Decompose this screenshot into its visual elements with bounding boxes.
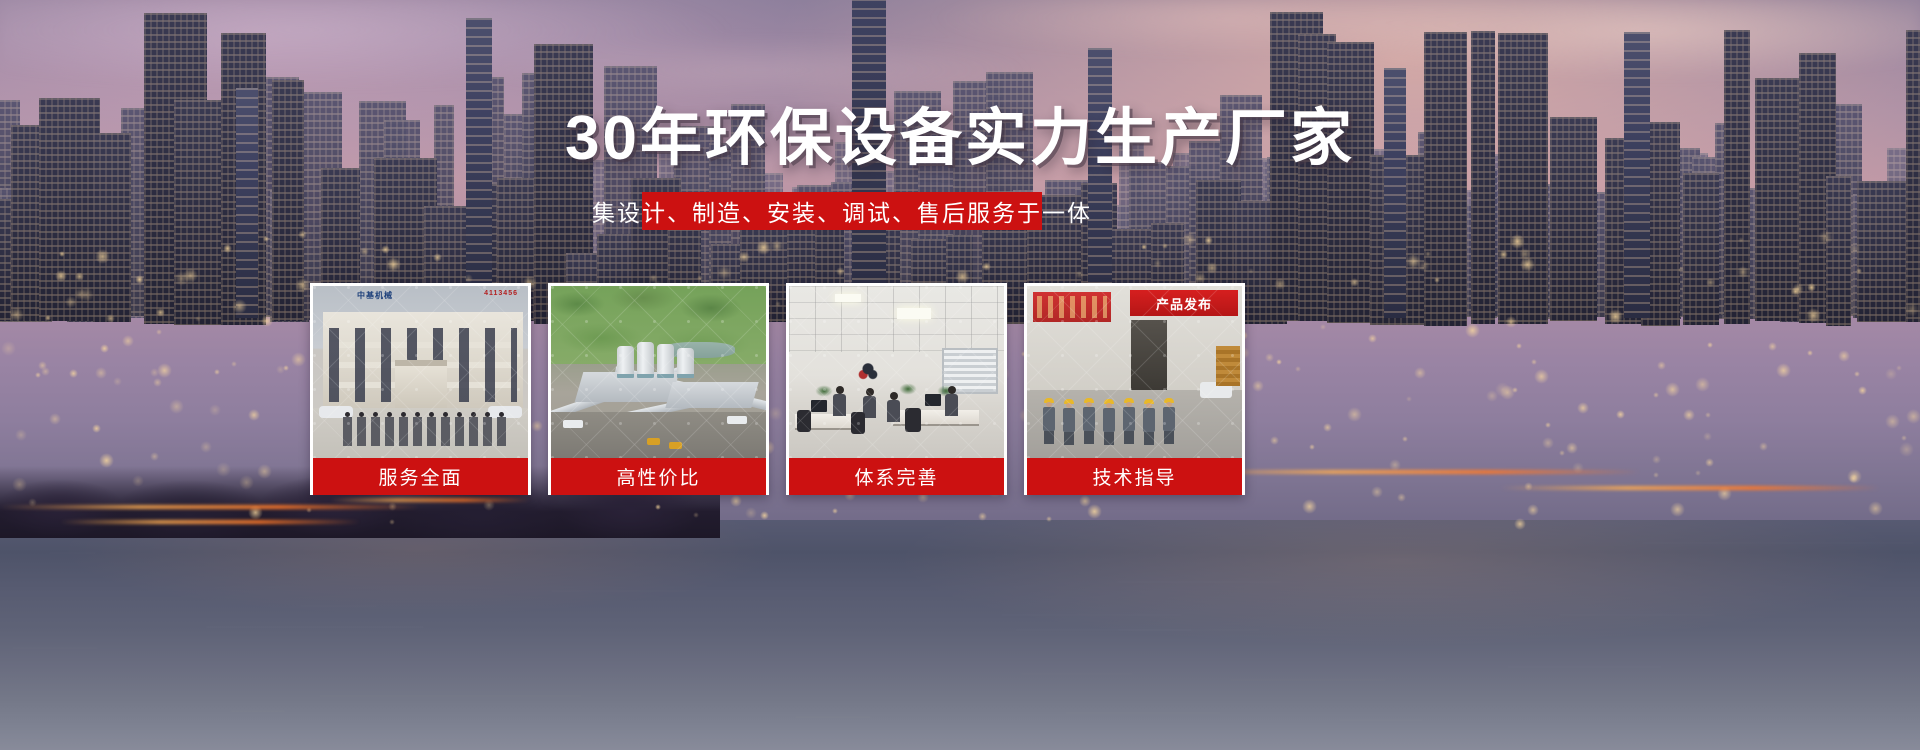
skyline-building <box>1906 30 1920 322</box>
city-light <box>239 475 254 490</box>
staff-member <box>483 412 492 446</box>
city-light <box>99 453 114 468</box>
city-light <box>836 267 845 276</box>
city-light <box>150 452 159 461</box>
city-light <box>1141 244 1147 250</box>
office-chair <box>797 410 811 432</box>
landmark-tower <box>1384 68 1406 318</box>
city-light <box>1652 455 1661 464</box>
storage-silo <box>637 342 654 378</box>
city-light <box>65 296 77 308</box>
water-streak <box>1230 679 1386 681</box>
card-label-text: 服务全面 <box>378 463 462 490</box>
water-streak <box>1001 614 1182 616</box>
water-streak <box>1349 705 1552 707</box>
workshop-illustration: 产品发布 <box>1027 286 1242 458</box>
city-light <box>1904 302 1919 317</box>
city-light <box>697 275 703 281</box>
water-streak <box>300 605 377 607</box>
city-light <box>756 240 771 255</box>
plant-shed <box>665 382 758 408</box>
water-streak <box>795 716 871 718</box>
city-light <box>1265 353 1274 362</box>
seated-employee <box>945 386 958 416</box>
water-streak <box>286 623 525 625</box>
city-light <box>1516 343 1522 349</box>
city-light <box>1046 516 1052 522</box>
city-light <box>1499 250 1508 259</box>
city-light <box>174 271 189 286</box>
city-light <box>1776 363 1791 378</box>
skyline-building <box>1683 173 1719 325</box>
card-label-text: 体系完善 <box>854 463 938 490</box>
water-streak <box>677 739 922 741</box>
city-light <box>1204 236 1213 245</box>
city-light <box>132 475 144 487</box>
city-light <box>1847 469 1862 484</box>
staff-member <box>399 412 408 446</box>
aerial-factory-illustration <box>551 286 766 458</box>
skyline-building <box>1550 117 1597 321</box>
city-light <box>1320 324 1326 330</box>
riverside-light-strip <box>1500 486 1880 490</box>
city-light <box>1838 350 1850 362</box>
office-chair <box>851 412 865 434</box>
factory-worker <box>1163 398 1175 444</box>
city-light <box>200 441 212 453</box>
city-light <box>1402 436 1408 442</box>
ceiling-grid <box>789 286 1004 352</box>
city-light <box>1791 287 1800 296</box>
water-streak <box>1222 609 1467 611</box>
city-light <box>92 424 101 433</box>
city-light <box>649 274 658 283</box>
water-streak <box>912 585 1051 587</box>
city-light <box>41 367 50 376</box>
product-launch-text: 产品发布 <box>1156 294 1212 313</box>
city-light <box>1899 442 1914 457</box>
staff-member <box>413 412 422 446</box>
city-light <box>1737 266 1749 278</box>
office-building-illustration: 中基机械 4113456 <box>313 286 528 458</box>
water-streak <box>653 672 851 674</box>
city-light <box>1542 437 1554 449</box>
city-light <box>1695 377 1710 392</box>
city-light <box>1527 504 1539 516</box>
water-streak <box>513 558 787 560</box>
wheel-loader <box>669 442 682 449</box>
city-light <box>1665 382 1680 397</box>
city-light <box>1514 518 1526 530</box>
city-light <box>1323 423 1332 432</box>
feature-card[interactable]: 高性价比 <box>548 283 769 495</box>
city-light <box>257 464 272 479</box>
city-light <box>1182 232 1197 247</box>
city-light <box>360 247 369 256</box>
skyline-building <box>1471 31 1495 324</box>
feature-card-list: 中基机械 4113456 服务全面 <box>310 283 1260 495</box>
product-launch-banner: 产品发布 <box>1130 290 1238 316</box>
city-light <box>261 315 273 327</box>
city-light <box>15 429 27 441</box>
city-light <box>1896 365 1902 371</box>
city-light <box>209 404 221 416</box>
factory-worker <box>1043 398 1055 444</box>
city-light <box>1616 410 1625 419</box>
city-light <box>1849 243 1861 255</box>
water-streak <box>12 647 98 649</box>
city-light <box>231 361 237 367</box>
city-light <box>248 409 260 421</box>
city-light <box>1806 308 1821 323</box>
truck <box>727 416 747 424</box>
city-light <box>745 507 757 519</box>
city-light <box>1519 248 1531 260</box>
workshop-door <box>1131 320 1167 392</box>
city-light <box>1534 369 1549 384</box>
seated-employee <box>887 392 900 422</box>
city-light <box>1906 409 1920 424</box>
city-light <box>153 378 162 387</box>
landmark-tower <box>852 0 886 316</box>
city-light <box>1505 316 1517 328</box>
city-light <box>75 272 84 281</box>
seated-employee <box>833 386 846 416</box>
water-streak <box>1642 542 1914 544</box>
lumber-stack <box>1216 346 1240 386</box>
truck <box>563 420 583 428</box>
city-light <box>1657 361 1666 370</box>
water-streak <box>1547 597 1638 599</box>
city-light <box>156 308 165 317</box>
card-label-text: 高性价比 <box>616 463 700 490</box>
ceiling-light-panel <box>897 308 931 319</box>
water-streak <box>1118 629 1259 631</box>
city-light <box>1406 396 1412 402</box>
city-light <box>1695 470 1701 476</box>
factory-worker <box>1103 399 1115 445</box>
water-streak <box>13 549 249 551</box>
city-light <box>1653 392 1659 398</box>
city-light <box>55 270 67 282</box>
city-light <box>1274 278 1286 290</box>
city-light <box>1706 278 1715 287</box>
city-light <box>122 335 134 347</box>
city-light <box>738 251 750 263</box>
potted-plant <box>813 382 835 397</box>
landmark-tower <box>466 18 492 318</box>
city-light <box>214 369 220 375</box>
skyline-building <box>1857 181 1910 322</box>
city-light <box>1350 278 1359 287</box>
city-light <box>955 269 970 284</box>
city-light <box>1414 367 1426 379</box>
water-streak <box>1116 581 1281 583</box>
wall-slogan-banner <box>1033 292 1111 322</box>
card-label: 服务全面 <box>313 458 528 495</box>
city-light <box>771 240 783 252</box>
skyline-building <box>1826 176 1851 326</box>
city-light <box>1608 309 1623 324</box>
city-light <box>1858 386 1867 395</box>
skyline-building <box>1424 32 1467 326</box>
water-streak <box>551 590 822 592</box>
city-light <box>1397 493 1406 502</box>
computer-monitor <box>925 394 941 406</box>
city-light <box>1276 359 1282 365</box>
storage-silo <box>677 348 694 378</box>
water-streak <box>1556 618 1752 620</box>
water-streak <box>645 712 700 714</box>
water-reflection-glow <box>0 520 1920 750</box>
city-light <box>982 262 991 271</box>
office-interior-illustration <box>789 286 1004 458</box>
city-light <box>1868 501 1883 516</box>
water-streak <box>1076 683 1223 685</box>
water-streak <box>1021 673 1133 675</box>
city-light <box>157 363 172 378</box>
city-light <box>1885 368 1897 380</box>
feature-card[interactable]: 体系完善 <box>786 283 1007 495</box>
city-light <box>169 399 184 414</box>
city-light <box>156 329 162 335</box>
card-photo <box>551 286 766 458</box>
card-photo: 产品发布 <box>1027 286 1242 458</box>
card-label-text: 技术指导 <box>1092 463 1176 490</box>
city-light <box>1302 499 1317 514</box>
city-light <box>1818 230 1833 245</box>
city-light <box>1206 262 1218 274</box>
city-light <box>693 512 699 518</box>
city-light <box>1703 432 1712 441</box>
staff-member <box>371 412 380 446</box>
landmark-tower <box>1624 32 1650 318</box>
storage-silo <box>657 344 674 378</box>
city-light <box>45 315 51 321</box>
city-light <box>386 257 401 272</box>
water-streak <box>917 561 1156 563</box>
water-streak <box>293 629 338 631</box>
office-chair <box>905 408 921 432</box>
city-light <box>1854 371 1860 377</box>
city-light <box>760 511 769 520</box>
city-light <box>263 236 269 242</box>
city-light <box>381 245 390 254</box>
water-streak <box>570 631 743 633</box>
city-light <box>1768 342 1777 351</box>
storage-silo <box>617 346 634 378</box>
city-light <box>95 367 107 379</box>
city-light <box>433 253 442 262</box>
city-light <box>283 365 289 371</box>
landmark-tower <box>236 88 258 318</box>
water-streak <box>319 695 582 697</box>
water-streak <box>657 619 769 621</box>
landmark-tower <box>1088 48 1112 318</box>
city-light <box>1670 502 1685 517</box>
staff-member <box>343 412 352 446</box>
city-light <box>223 244 232 253</box>
city-light <box>655 504 661 510</box>
city-light <box>35 372 41 378</box>
card-photo: 中基机械 4113456 <box>313 286 528 458</box>
skyline-building <box>1498 33 1548 324</box>
city-light <box>195 316 201 322</box>
city-light <box>1705 412 1711 418</box>
city-light <box>1434 277 1440 283</box>
skyline-building <box>1724 30 1750 324</box>
potted-plant <box>897 380 919 395</box>
city-light <box>1759 442 1768 451</box>
factory-worker <box>1083 398 1095 444</box>
city-light <box>232 299 247 314</box>
card-label: 高性价比 <box>551 458 766 495</box>
water-streak <box>1551 577 1713 579</box>
city-light <box>106 314 115 323</box>
building-entrance <box>395 360 447 408</box>
card-photo <box>789 286 1004 458</box>
city-light <box>464 274 473 283</box>
city-light <box>298 230 307 239</box>
city-light <box>1545 422 1551 428</box>
wheel-loader <box>647 438 660 445</box>
city-light <box>216 462 231 477</box>
city-light <box>113 377 122 386</box>
feature-card[interactable]: 中基机械 4113456 服务全面 <box>310 283 531 495</box>
city-light <box>1707 342 1713 348</box>
city-light <box>59 251 65 257</box>
city-light <box>1577 402 1589 414</box>
building-phone-text: 4113456 <box>484 290 518 297</box>
city-light <box>49 413 61 425</box>
city-light <box>1531 359 1537 365</box>
city-light <box>1309 444 1315 450</box>
water-streak <box>1187 670 1245 672</box>
water-streak <box>736 568 893 570</box>
city-light <box>1 341 16 356</box>
city-light <box>1705 458 1714 467</box>
riverside-light-strip <box>0 505 420 509</box>
card-label: 体系完善 <box>789 458 1004 495</box>
factory-worker <box>1143 399 1155 445</box>
city-light <box>832 508 838 514</box>
city-light <box>1418 260 1430 272</box>
water-streak <box>230 710 285 712</box>
city-light <box>1270 436 1279 445</box>
city-light <box>1162 243 1168 249</box>
water-streak <box>817 576 911 578</box>
water-streak <box>1339 719 1423 721</box>
water-streak <box>1771 570 1855 572</box>
staff-member <box>455 412 464 446</box>
city-light <box>1425 251 1431 257</box>
city-light <box>1465 323 1480 338</box>
riverside-light-strip <box>60 520 360 524</box>
city-light <box>9 307 24 322</box>
city-light <box>1248 268 1254 274</box>
city-light <box>1901 435 1907 441</box>
computer-monitor <box>811 400 827 412</box>
factory-worker <box>1063 399 1075 445</box>
staff-member <box>469 412 478 446</box>
city-light <box>730 495 742 507</box>
city-light <box>100 344 109 353</box>
city-light <box>978 512 987 521</box>
subtitle-banner: 集设计、制造、安装、调试、售后服务于一体 <box>642 192 1042 230</box>
staff-member <box>441 412 450 446</box>
skyline-building <box>93 133 131 322</box>
card-label: 技术指导 <box>1027 458 1242 495</box>
city-light <box>1087 504 1102 519</box>
city-light <box>1807 283 1816 292</box>
city-light <box>1347 407 1362 422</box>
water-streak <box>981 641 1166 643</box>
water-streak <box>206 626 424 628</box>
water-streak <box>49 552 96 554</box>
city-light <box>717 265 732 280</box>
city-light <box>1368 334 1377 343</box>
city-light <box>1738 237 1744 243</box>
city-light <box>1885 414 1900 429</box>
city-light <box>1295 366 1301 372</box>
city-light <box>1653 472 1659 478</box>
city-light <box>295 278 310 293</box>
subtitle-text: 集设计、制造、安装、调试、售后服务于一体 <box>592 194 1092 228</box>
city-light <box>135 275 144 284</box>
hero-banner: 30年环保设备实力生产厂家 集设计、制造、安装、调试、售后服务于一体 中基机械 … <box>0 0 1920 750</box>
staff-member <box>427 412 436 446</box>
water-streak <box>1212 556 1264 558</box>
feature-card[interactable]: 产品发布 技术指导 <box>1024 283 1245 495</box>
water-streak <box>1507 666 1662 668</box>
water-streak <box>1065 712 1221 714</box>
city-light <box>1510 234 1525 249</box>
city-light <box>1153 259 1162 268</box>
city-light <box>95 249 110 264</box>
city-light <box>1500 385 1515 400</box>
wall-logo <box>853 360 883 382</box>
city-light <box>150 368 159 377</box>
city-light <box>1486 390 1498 402</box>
city-light <box>12 477 27 492</box>
city-light <box>1075 270 1084 279</box>
factory-worker <box>1123 398 1135 444</box>
city-light <box>291 352 306 367</box>
city-light <box>1566 442 1578 454</box>
staff-member <box>385 412 394 446</box>
city-light <box>1856 268 1862 274</box>
city-light <box>1678 267 1684 273</box>
city-light <box>69 369 78 378</box>
water-streak <box>1559 614 1715 616</box>
ceiling-light-panel <box>835 294 861 302</box>
city-light <box>389 519 395 525</box>
city-light <box>1371 486 1383 498</box>
city-light <box>1559 450 1565 456</box>
staff-member <box>497 412 506 446</box>
city-light <box>1683 409 1695 421</box>
building-sign-text: 中基机械 <box>357 290 393 301</box>
water-streak <box>1462 740 1552 742</box>
staff-member <box>357 412 366 446</box>
water-streak <box>324 589 485 591</box>
riverside-light-strip <box>330 498 530 502</box>
water-streak <box>219 563 441 565</box>
city-light <box>1807 350 1813 356</box>
